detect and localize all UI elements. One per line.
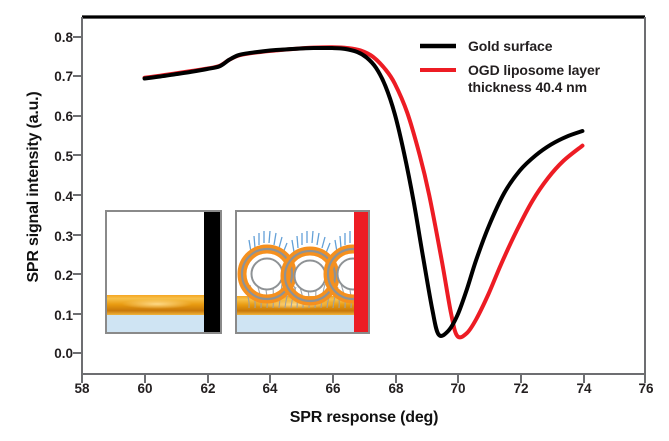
spr-reflectivity-chart: SPR signal intensity (a.u.) SPR response… <box>0 0 669 441</box>
curve-gold-surface <box>145 48 583 336</box>
x-tick-marks <box>82 374 645 383</box>
curve-ogd-liposome-layer <box>145 47 583 337</box>
plot-canvas <box>0 0 669 441</box>
y-tick-marks <box>73 37 82 353</box>
